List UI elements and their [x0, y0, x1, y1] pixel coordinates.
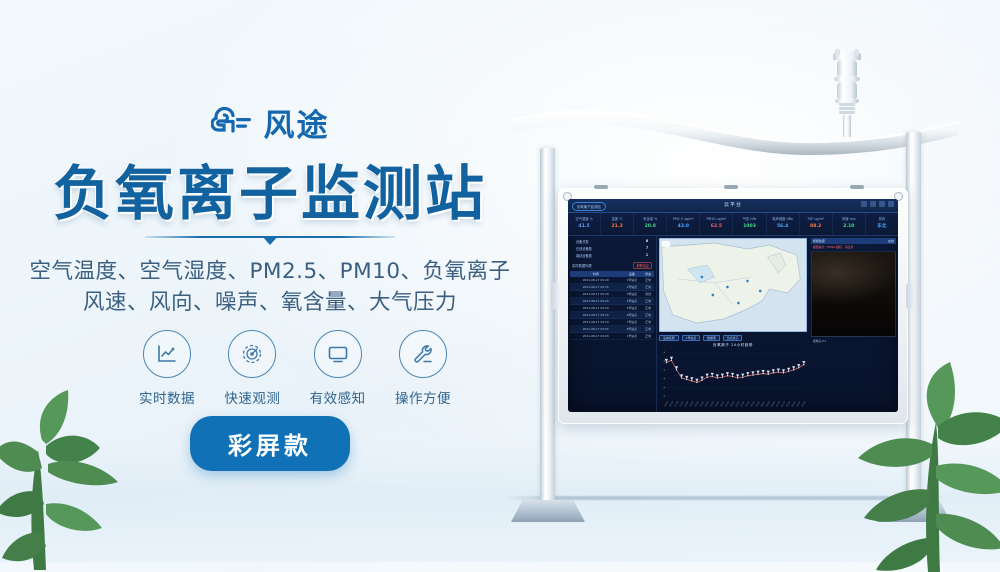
svg-text:18:30: 18:30 [751, 401, 756, 408]
metric-card: 风向东北 [866, 213, 898, 235]
table-cell: 2021-08-17 09:10 [570, 319, 621, 326]
foliage-left [0, 380, 175, 570]
metric-value: 1003 [733, 222, 765, 231]
table-body: 2021-08-17 09:401号站点正常2021-08-17 09:352号… [570, 277, 654, 340]
stat-value: 8 [646, 239, 648, 244]
bezel-clip [724, 185, 738, 189]
stat-value: 1 [646, 253, 648, 258]
stat-value: 7 [646, 246, 648, 251]
table-cell: 2021-08-17 09:25 [570, 298, 621, 305]
metric-card: 空气湿度 %41.5 [568, 213, 601, 235]
left-column: 设备总数8在线设备数7离线设备数1 实时数据列表 报警信息 时间设备状态 202… [568, 236, 657, 412]
data-table: 时间设备状态 2021-08-17 09:401号站点正常2021-08-17 … [570, 271, 654, 340]
metric-value: 东北 [866, 222, 898, 231]
page-title: 负氧离子监测站 [0, 146, 540, 231]
svg-text:16:00: 16:00 [725, 401, 730, 408]
table-cell: 2021-08-17 09:05 [570, 326, 621, 333]
svg-text:22:00: 22:00 [786, 401, 791, 408]
svg-text:13:30: 13:30 [700, 401, 705, 408]
table-row[interactable]: 2021-08-17 09:001号站点正常 [570, 333, 654, 340]
feature-icon-frame [143, 330, 191, 378]
camera-label: 摄像头 01 [811, 337, 896, 345]
svg-text:19:00: 19:00 [756, 401, 761, 408]
svg-text:22:30: 22:30 [792, 401, 797, 408]
alarm-tag[interactable]: 报警信息 [633, 262, 652, 269]
table-cell: 2021-08-17 09:20 [570, 305, 621, 312]
device-stat-row: 离线设备数1 [570, 252, 654, 259]
metric-value: 88.2 [800, 222, 832, 231]
brand-name: 风途 [264, 100, 330, 145]
table-cell: 正常 [642, 312, 654, 319]
table-cell: 8号站点 [621, 326, 642, 333]
line-chart-icon [155, 342, 179, 366]
table-cell: 正常 [642, 333, 654, 340]
stat-label: 设备总数 [576, 239, 589, 244]
subtitle-line-1: 空气温度、空气湿度、PM2.5、PM10、负氧离子 [0, 256, 540, 287]
dashboard-toolbar-icons[interactable] [861, 201, 894, 207]
table-row[interactable]: 2021-08-17 09:254号站点正常 [570, 298, 654, 305]
toolbar-icon[interactable] [861, 201, 867, 207]
svg-text:13:00: 13:00 [695, 401, 700, 408]
metric-card: 氧含量 %20.8 [634, 213, 667, 235]
chart-select-2[interactable]: 负氧离子 [723, 335, 743, 341]
chart-select-label-1: 设备名称 [659, 335, 679, 341]
metric-value: 21.3 [601, 222, 633, 231]
svg-text:21:00: 21:00 [776, 401, 781, 408]
dashboard-title: 云平台 [568, 201, 898, 208]
metric-value: 62.5 [700, 222, 732, 231]
bezel-clip [850, 185, 864, 189]
radar-target-icon [240, 342, 264, 366]
svg-text:17:00: 17:00 [736, 401, 741, 408]
svg-text:14:30: 14:30 [710, 401, 715, 408]
metric-value: 43.0 [667, 222, 699, 231]
video-status: 在线 [888, 239, 894, 243]
metric-value: 2.10 [833, 222, 865, 231]
feature-item-fast-observation: 快速观测 [215, 330, 289, 407]
chart-toolbar[interactable]: 设备名称 1号站点 数据项 负氧离子 [659, 335, 807, 341]
table-row[interactable]: 2021-08-17 09:352号站点正常 [570, 284, 654, 291]
dashboard-header: 负氧离子监测站 云平台 [568, 199, 898, 213]
subtitle-line-2: 风速、风向、噪声、氧含量、大气压力 [0, 287, 540, 318]
table-cell: 3号站点 [621, 291, 642, 298]
metric-card-row: 空气湿度 %41.5温度 ℃21.3氧含量 %20.8PM2.5 ug/m³43… [568, 213, 898, 236]
feature-icon-frame [399, 330, 447, 378]
svg-text:18:00: 18:00 [746, 401, 751, 408]
table-cell: 1号站点 [621, 333, 642, 340]
table-cell: 离线 [642, 291, 654, 298]
feature-item-effective-sensing: 有效感知 [301, 330, 375, 407]
feature-label: 有效感知 [301, 387, 375, 407]
svg-text:17:30: 17:30 [741, 401, 746, 408]
toolbar-icon[interactable] [870, 201, 876, 207]
table-cell: 5号站点 [621, 305, 642, 312]
model-badge[interactable]: 彩屏款 [190, 416, 350, 471]
stat-label: 在线设备数 [576, 246, 592, 251]
metric-card: 气压 hPa1003 [733, 213, 766, 235]
metric-card: 噪声强度 dBa56.4 [767, 213, 800, 235]
svg-text:20:00: 20:00 [766, 401, 771, 408]
table-cell: 7号站点 [621, 319, 642, 326]
table-cell: 正常 [642, 326, 654, 333]
metric-card: PM2.5 ug/m³43.0 [667, 213, 700, 235]
svg-text:23:00: 23:00 [797, 401, 802, 408]
monitor-icon [326, 342, 350, 366]
metric-value: 56.4 [767, 222, 799, 231]
table-cell: 2021-08-17 09:00 [570, 333, 621, 340]
svg-text:16:30: 16:30 [730, 401, 735, 408]
feature-list: 实时数据 快速观测 [130, 330, 460, 407]
svg-text:15:00: 15:00 [715, 401, 720, 408]
table-row[interactable]: 2021-08-17 09:156号站点正常 [570, 312, 654, 319]
feature-icon-frame [314, 330, 362, 378]
svg-text:12:30: 12:30 [690, 401, 695, 408]
table-cell: 正常 [642, 284, 654, 291]
trend-chart: 负氧离子 24小时趋势 10:0010:3011:0011:3012:0012:… [659, 343, 807, 412]
svg-text:10:00: 10:00 [664, 401, 669, 408]
table-cell: 6号站点 [621, 312, 642, 319]
video-alert-text: 报警提示：PM10 超标，请注意 [811, 244, 896, 250]
map-graphic [660, 239, 806, 331]
svg-text:21:30: 21:30 [781, 401, 786, 408]
table-cell: 4号站点 [621, 298, 642, 305]
table-cell: 正常 [642, 305, 654, 312]
panel-mount-right [906, 283, 915, 309]
svg-text:11:30: 11:30 [680, 401, 685, 408]
poster-canvas: 风途 负氧离子监测站 空气温度、空气湿度、PM2.5、PM10、负氧离子 风速、… [0, 0, 1000, 562]
china-map[interactable] [659, 238, 807, 332]
ultrasonic-weather-sensor-icon [825, 46, 869, 138]
table-row[interactable]: 2021-08-17 09:303号站点离线 [570, 291, 654, 298]
metric-card: 温度 ℃21.3 [601, 213, 634, 235]
svg-text:19:30: 19:30 [761, 401, 766, 408]
toolbar-icon[interactable] [888, 201, 894, 207]
foliage-right [832, 362, 1000, 572]
table-row[interactable]: 2021-08-17 09:205号站点正常 [570, 305, 654, 312]
center-column: 设备名称 1号站点 数据项 负氧离子 负氧离子 24小时趋势 10:0010:3… [657, 236, 809, 412]
wind-cloud-g-logo-icon [211, 106, 255, 140]
feature-label: 快速观测 [215, 387, 289, 407]
video-title: 视频监控 [813, 239, 825, 243]
feature-item-easy-operation: 操作方便 [386, 330, 460, 407]
metric-card: TSP ug/m³88.2 [800, 213, 833, 235]
svg-text:12:00: 12:00 [685, 401, 690, 408]
feature-label: 操作方便 [386, 387, 460, 407]
svg-text:20:30: 20:30 [771, 401, 776, 408]
title-divider [0, 236, 540, 238]
panel-mount-left [551, 283, 560, 309]
chart-graphic: 10:0010:3011:0011:3012:0012:3013:0013:30… [659, 348, 807, 411]
kiosk-post-left [540, 148, 555, 516]
table-row[interactable]: 2021-08-17 09:107号站点正常 [570, 319, 654, 326]
svg-text:23:30: 23:30 [802, 401, 807, 408]
svg-text:14:00: 14:00 [705, 401, 710, 408]
device-stat-list: 设备总数8在线设备数7离线设备数1 [570, 238, 654, 259]
chart-select-1[interactable]: 1号站点 [682, 335, 701, 341]
table-cell: 正常 [642, 298, 654, 305]
metric-value: 20.8 [634, 222, 666, 231]
stat-label: 离线设备数 [576, 253, 592, 258]
wave-canopy [508, 98, 963, 168]
svg-text:10:30: 10:30 [669, 401, 674, 408]
table-cell: 2021-08-17 09:15 [570, 312, 621, 319]
table-cell: 2021-08-17 09:30 [570, 291, 621, 298]
table-cell: 2号站点 [621, 284, 642, 291]
chart-select-label-2: 数据项 [703, 335, 720, 341]
device-stat-row: 设备总数8 [570, 238, 654, 245]
subtitle-block: 空气温度、空气湿度、PM2.5、PM10、负氧离子 风速、风向、噪声、氧含量、大… [0, 256, 540, 318]
table-cell: 正常 [642, 319, 654, 326]
wrench-icon [411, 342, 435, 366]
table-row[interactable]: 2021-08-17 09:058号站点正常 [570, 326, 654, 333]
table-title: 实时数据列表 [572, 263, 592, 268]
metric-card: 风速 m/s2.10 [833, 213, 866, 235]
metric-card: PM10 ug/m³62.5 [700, 213, 733, 235]
kiosk-base-left [511, 500, 585, 522]
brand-logo: 风途 [0, 100, 540, 145]
svg-text:15:30: 15:30 [720, 401, 725, 408]
bezel-clip [594, 185, 608, 189]
table-header-bar: 实时数据列表 报警信息 [570, 262, 654, 269]
svg-text:11:00: 11:00 [674, 401, 679, 408]
table-cell: 2021-08-17 09:35 [570, 284, 621, 291]
toolbar-icon[interactable] [879, 201, 885, 207]
metric-value: 41.5 [568, 222, 600, 231]
device-stat-row: 在线设备数7 [570, 245, 654, 252]
feature-icon-frame [228, 330, 276, 378]
divider-triangle-icon [262, 236, 278, 245]
camera-feed[interactable] [811, 251, 896, 337]
